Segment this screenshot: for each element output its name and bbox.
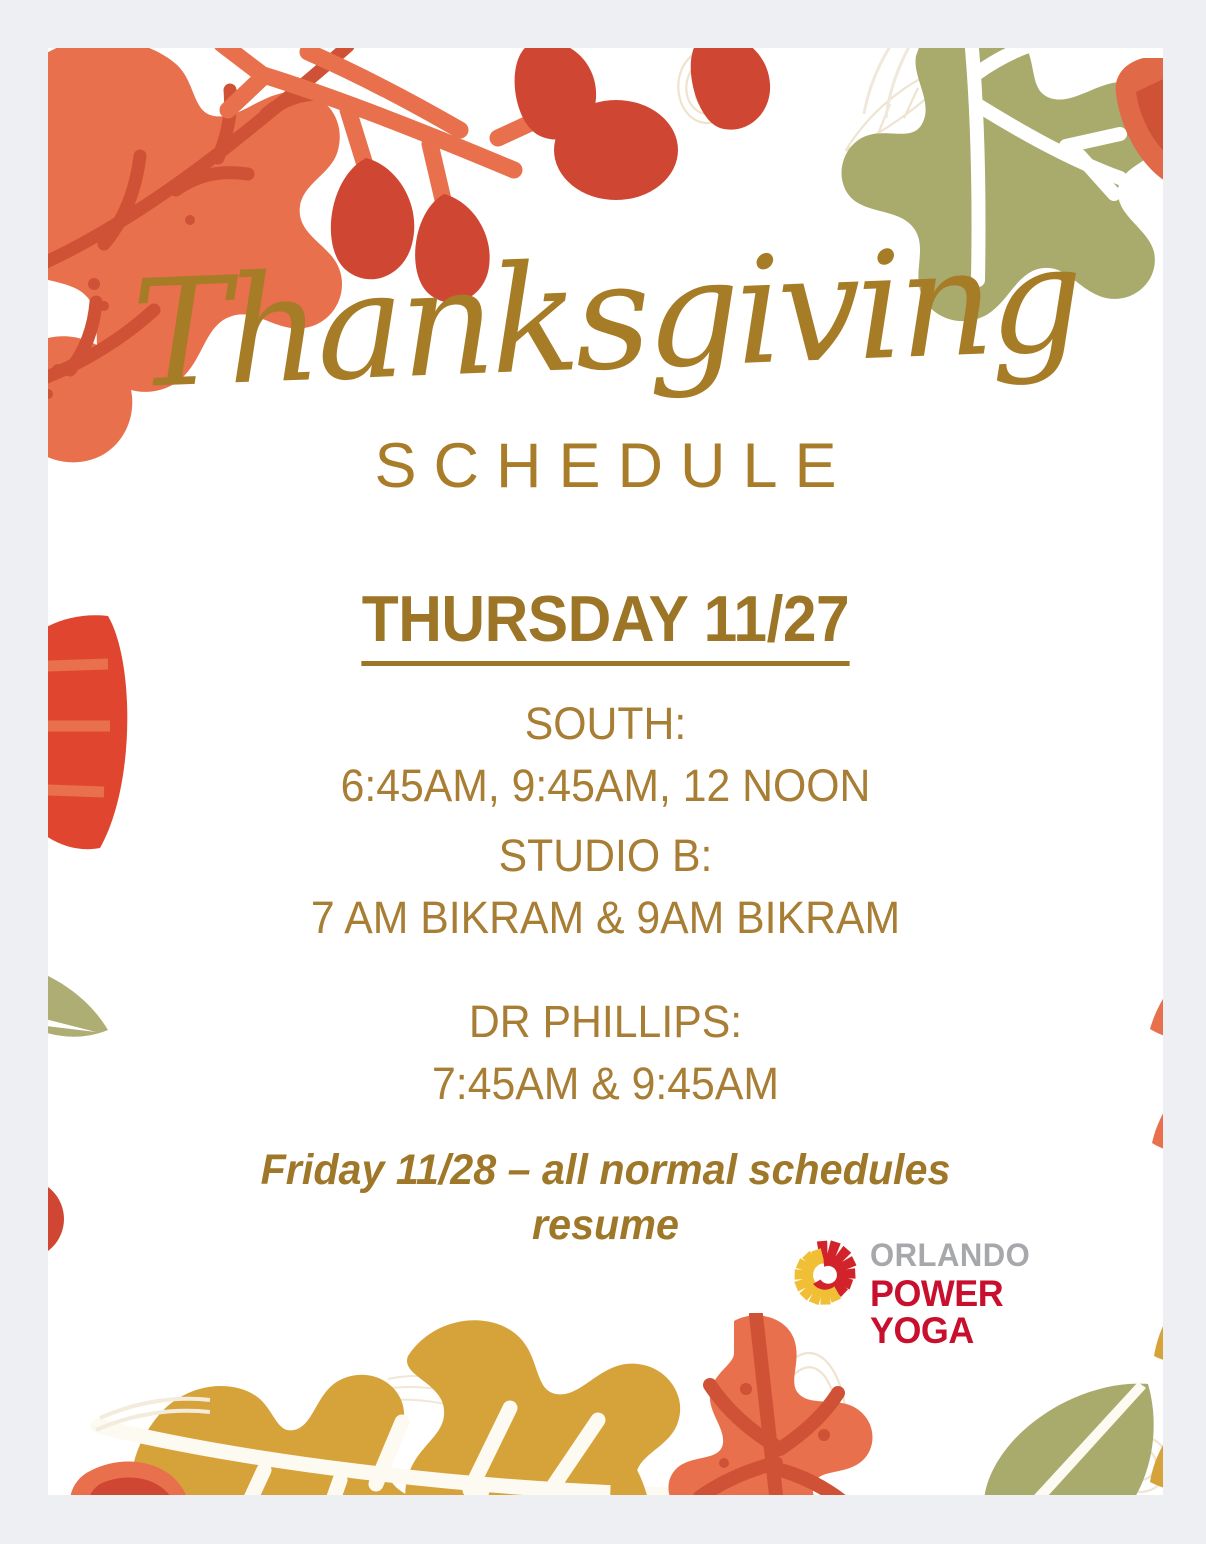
poster-card: Thanksgiving SCHEDULE THURSDAY 11/27 SOU… [48,48,1163,1495]
page-subtitle: SCHEDULE [48,435,1163,498]
location-name: DR PHILLIPS: [76,991,1135,1053]
brand-logo: ORLANDO POWER YOGA [788,1233,1058,1328]
schedule-list: SOUTH: 6:45AM, 9:45AM, 12 NOON STUDIO B:… [48,693,1163,1123]
day-heading: THURSDAY 11/27 [87,586,1124,651]
logo-wordmark: ORLANDO POWER YOGA [870,1239,1058,1349]
location-times: 7:45AM & 9:45AM [76,1053,1135,1115]
day-heading-text: THURSDAY 11/27 [362,582,849,666]
sunburst-icon [788,1238,862,1312]
schedule-entry-dr-phillips: DR PHILLIPS: 7:45AM & 9:45AM [48,991,1163,1115]
location-times: 7 AM BIKRAM & 9AM BIKRAM [76,887,1135,949]
location-times: 6:45AM, 9:45AM, 12 NOON [76,755,1135,817]
location-name: SOUTH: [76,693,1135,755]
page-title-script: Thanksgiving [48,222,1163,413]
logo-line-orlando: ORLANDO [870,1239,1052,1271]
schedule-spacer [48,957,1163,991]
location-name: STUDIO B: [76,825,1135,887]
logo-line-power-yoga: POWER YOGA [870,1275,1052,1349]
schedule-entry-south: SOUTH: 6:45AM, 9:45AM, 12 NOON [48,693,1163,817]
schedule-entry-studio-b: STUDIO B: 7 AM BIKRAM & 9AM BIKRAM [48,825,1163,949]
